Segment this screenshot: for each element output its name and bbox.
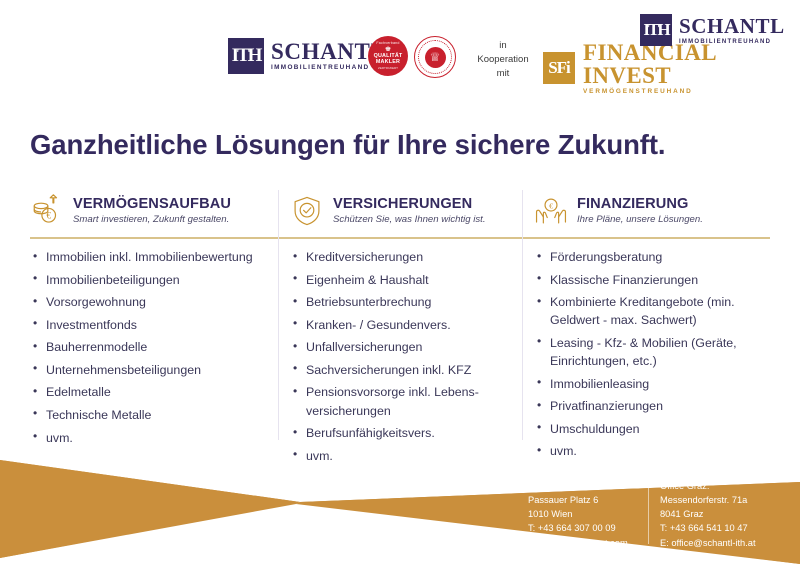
list-item: Edelmetalle (46, 383, 262, 401)
ith-wordmark-tagline-top: IMMOBILIENTREUHAND (679, 39, 785, 45)
bullet-list-vermoegensaufbau: Immobilien inkl. Immobilienbewertung Imm… (30, 248, 262, 447)
office-graz-block: Office Graz: Messendorferstr. 71a 8041 G… (660, 479, 756, 550)
list-item: Bauherrenmodelle (46, 338, 262, 356)
sfi-wordmark-tagline: VERMÖGENSTREUHAND (583, 89, 800, 95)
office-graz-email[interactable]: E: office@schantl-ith.at (660, 536, 756, 550)
service-columns: € VERMÖGENSAUFBAU Smart investieren, Zuk… (30, 190, 770, 469)
column-header-finanzierung: € FINANZIERUNG Ihre Pläne, unsere Lösung… (534, 190, 770, 232)
list-wrap-1: Immobilien inkl. Immobilienbewertung Imm… (30, 248, 262, 447)
sfi-wordmark-title: FINANCIAL INVEST (583, 41, 800, 87)
logo-schantl-ith-top-right[interactable]: ITH SCHANTL IMMOBILIENTREUHAND (640, 14, 785, 46)
office-wien-name: Office Wien: (528, 479, 628, 493)
list-item: Kranken- / Gesundenvers. (306, 316, 506, 334)
sfi-monogram-icon: SFi (543, 52, 575, 84)
svg-text:€: € (549, 201, 553, 210)
list-item: Vorsorgewohnung (46, 293, 262, 311)
column-titles-2: VERSICHERUNGEN Schützen Sie, was Ihnen w… (333, 196, 486, 226)
office-wien-city: 1010 Wien (528, 507, 628, 521)
list-item: Immobilienleasing (550, 375, 770, 393)
column-subtitle-3: Ihre Pläne, unsere Lösungen. (577, 215, 703, 226)
page-headline: Ganzheitliche Lösungen für Ihre sichere … (30, 129, 665, 161)
office-wien-street: Passauer Platz 6 (528, 493, 628, 507)
list-item: Technische Metalle (46, 406, 262, 424)
bullet-list-versicherungen: Kreditversicherungen Eigenheim & Haushal… (290, 248, 506, 465)
office-graz-city: 8041 Graz (660, 507, 756, 521)
list-item: Klassische Finanzierungen (550, 271, 770, 289)
office-graz-phone[interactable]: T: +43 664 541 10 47 (660, 521, 756, 535)
list-item: Immobilienbeteiligungen (46, 271, 262, 289)
column-header-vermoegensaufbau: € VERMÖGENSAUFBAU Smart investieren, Zuk… (30, 190, 262, 232)
seal-bottom-text: ZERTIFIZIERT (378, 67, 398, 70)
list-item: Unfallversicherungen (306, 338, 506, 356)
logo-schantl-ith-main[interactable]: ITH SCHANTL IMMOBILIENTREUHAND (228, 38, 386, 74)
kooperation-note: in Kooperation mit (470, 39, 536, 80)
column-header-versicherungen: VERSICHERUNGEN Schützen Sie, was Ihnen w… (290, 190, 506, 232)
office-wien-phone[interactable]: T: +43 664 307 00 09 (528, 521, 628, 535)
office-graz-name: Office Graz: (660, 479, 756, 493)
column-titles-1: VERMÖGENSAUFBAU Smart investieren, Zukun… (73, 196, 231, 226)
column-subtitle-1: Smart investieren, Zukunft gestalten. (73, 215, 231, 226)
seal-top-text: Fachverband (376, 42, 399, 46)
svg-text:€: € (46, 212, 51, 222)
qualitaetsmakler-seal-icon: Fachverband ♚ QUALITÄT MAKLER ZERTIFIZIE… (368, 36, 408, 76)
list-item: Pensionsvorsorge inkl. Lebens-versicheru… (306, 383, 506, 419)
list-item: Immobilien inkl. Immobilienbewertung (46, 248, 262, 266)
wko-seal-ring (418, 40, 452, 74)
ith-monogram-icon-top: ITH (640, 14, 672, 46)
list-item: Umschuldungen (550, 420, 770, 438)
list-item: Unternehmensbeteiligungen (46, 361, 262, 379)
column-finanzierung: € FINANZIERUNG Ihre Pläne, unsere Lösung… (522, 190, 770, 469)
hands-holding-coin-icon: € (534, 194, 568, 228)
list-wrap-2: Kreditversicherungen Eigenheim & Haushal… (290, 248, 506, 465)
bullet-list-finanzierung: Förderungsberatung Klassische Finanzieru… (534, 248, 770, 460)
list-item: Kreditversicherungen (306, 248, 506, 266)
column-subtitle-2: Schützen Sie, was Ihnen wichtig ist. (333, 215, 486, 226)
wko-seal-icon: ♕ (414, 36, 456, 78)
ith-wordmark-tagline: IMMOBILIENTREUHAND (271, 65, 386, 71)
column-title-1: VERMÖGENSAUFBAU (73, 196, 231, 212)
list-item: Förderungsberatung (550, 248, 770, 266)
list-wrap-3: Förderungsberatung Klassische Finanzieru… (534, 248, 770, 460)
ith-monogram-icon: ITH (228, 38, 264, 74)
header-logo-bar: ITH SCHANTL IMMOBILIENTREUHAND Fachverba… (0, 0, 800, 105)
list-item: Kombinierte Kreditangebote (min. Geldwer… (550, 293, 770, 329)
office-divider (648, 476, 649, 544)
column-vermoegensaufbau: € VERMÖGENSAUFBAU Smart investieren, Zuk… (30, 190, 278, 469)
list-item: Eigenheim & Haushalt (306, 271, 506, 289)
ith-wordmark-title-top: SCHANTL (679, 16, 785, 37)
kooperation-line-2: Kooperation (477, 54, 528, 65)
ith-wordmark-top: SCHANTL IMMOBILIENTREUHAND (679, 16, 785, 45)
shield-check-icon (290, 194, 324, 228)
office-wien-block: Office Wien: Passauer Platz 6 1010 Wien … (528, 479, 628, 550)
column-versicherungen: VERSICHERUNGEN Schützen Sie, was Ihnen w… (278, 190, 522, 469)
logo-sfi-financial-invest[interactable]: SFi FINANCIAL INVEST VERMÖGENSTREUHAND (543, 41, 800, 95)
list-item: Leasing - Kfz- & Mobilien (Geräte, Einri… (550, 334, 770, 370)
kooperation-line-1: in (499, 40, 506, 51)
list-item: Betriebsunterbrechung (306, 293, 506, 311)
column-title-2: VERSICHERUNGEN (333, 196, 486, 212)
kooperation-line-3: mit (497, 68, 510, 79)
column-titles-3: FINANZIERUNG Ihre Pläne, unsere Lösungen… (577, 196, 703, 226)
column-title-3: FINANZIERUNG (577, 196, 703, 212)
coins-euro-growth-icon: € (30, 194, 64, 228)
seal-line2: MAKLER (376, 60, 400, 66)
ith-monogram-label: ITH (228, 38, 264, 74)
list-item: Privatfinanzierungen (550, 397, 770, 415)
ith-monogram-label-top: ITH (640, 14, 672, 46)
office-graz-street: Messendorferstr. 71a (660, 493, 756, 507)
list-item: Sachversicherungen inkl. KFZ (306, 361, 506, 379)
list-item: Investmentfonds (46, 316, 262, 334)
office-wien-email[interactable]: E: office@sfi-invest.com (528, 536, 628, 550)
sfi-wordmark: FINANCIAL INVEST VERMÖGENSTREUHAND (583, 41, 800, 95)
